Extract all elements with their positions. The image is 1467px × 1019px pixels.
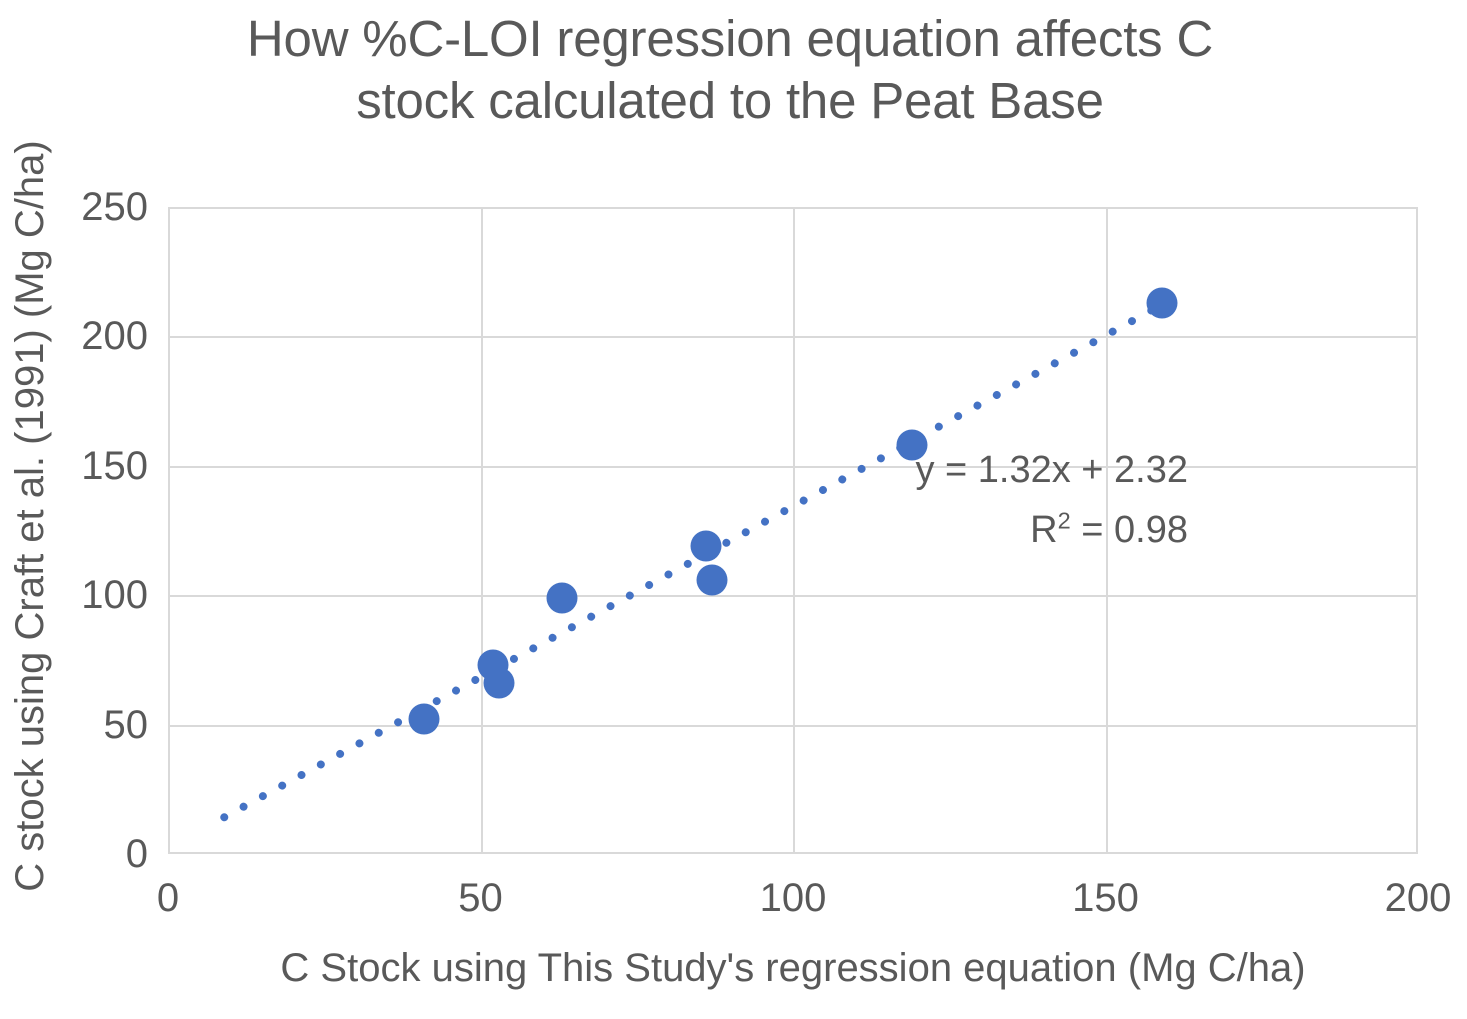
data-point bbox=[484, 668, 515, 699]
regression-annotation: y = 1.32x + 2.32 R2 = 0.98 bbox=[908, 445, 1188, 555]
x-tick-label: 150 bbox=[1026, 878, 1186, 918]
chart-title: How %C-LOI regression equation affects C… bbox=[150, 8, 1310, 132]
x-tick-label: 50 bbox=[401, 878, 561, 918]
regression-equation-text: y = 1.32x + 2.32 bbox=[908, 445, 1188, 495]
r-squared-raw: R2 = 0.98 bbox=[1030, 509, 1188, 551]
x-tick-label: 200 bbox=[1338, 878, 1467, 918]
trendline bbox=[168, 207, 1418, 854]
data-point bbox=[696, 564, 727, 595]
y-axis-title: C stock using Craft et al. (1991) (Mg C/… bbox=[6, 96, 54, 936]
x-axis-title: C Stock using This Study's regression eq… bbox=[168, 944, 1418, 992]
plot-area: y = 1.32x + 2.32 R2 = 0.98 bbox=[168, 207, 1418, 854]
x-tick-label: 0 bbox=[88, 878, 248, 918]
data-point bbox=[546, 582, 577, 613]
data-point bbox=[1146, 287, 1177, 318]
r-squared-text: R2 = 0.98 bbox=[908, 495, 1188, 555]
x-tick-label: 100 bbox=[713, 878, 873, 918]
data-point bbox=[690, 531, 721, 562]
data-point bbox=[409, 704, 440, 735]
x-axis-tick-labels: 050100150200 bbox=[168, 878, 1418, 928]
